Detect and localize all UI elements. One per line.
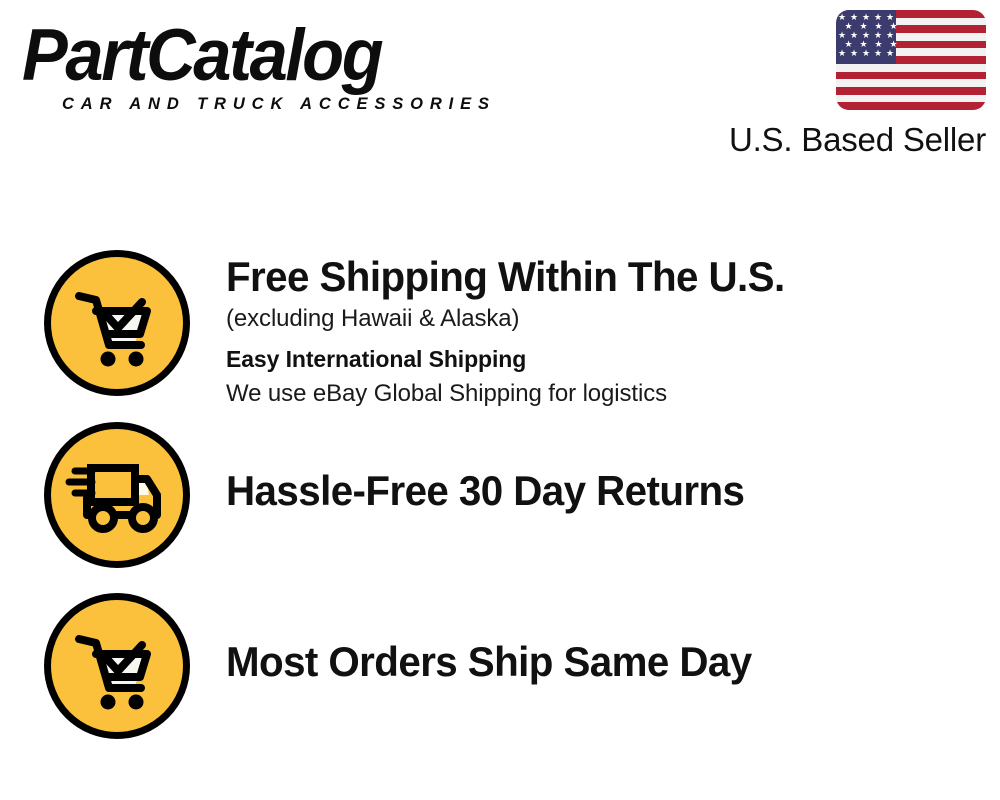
list-item: Hassle-Free 30 Day Returns <box>0 422 1000 568</box>
feature-text-block: Hassle-Free 30 Day Returns <box>226 422 1000 516</box>
brand-tagline: CAR AND TRUCK ACCESSORIES <box>62 94 496 114</box>
us-flag-icon: ★★★★★ ★★★★ ★★★★★ ★★★★ ★★★★★ <box>836 10 986 110</box>
delivery-truck-icon <box>44 422 190 568</box>
shopping-cart-check-icon <box>44 593 190 739</box>
flag-canton: ★★★★★ ★★★★ ★★★★★ ★★★★ ★★★★★ <box>836 10 896 64</box>
feature-subtext: We use eBay Global Shipping for logistic… <box>226 377 1000 410</box>
shopping-cart-check-icon <box>44 250 190 396</box>
page-header: PartCatalog CAR AND TRUCK ACCESSORIES ★★… <box>0 0 1000 170</box>
feature-text-block: Most Orders Ship Same Day <box>226 593 1000 687</box>
feature-text-block: Free Shipping Within The U.S. (excluding… <box>226 250 1000 410</box>
feature-headline: Hassle-Free 30 Day Returns <box>226 466 969 516</box>
feature-headline: Most Orders Ship Same Day <box>226 637 969 687</box>
feature-subheading: Easy International Shipping <box>226 343 1000 376</box>
brand-logo[interactable]: PartCatalog CAR AND TRUCK ACCESSORIES <box>22 18 492 116</box>
list-item: Most Orders Ship Same Day <box>0 593 1000 739</box>
list-item: Free Shipping Within The U.S. (excluding… <box>0 250 1000 410</box>
feature-note: (excluding Hawaii & Alaska) <box>226 302 1000 335</box>
us-based-seller-label: U.S. Based Seller <box>724 121 986 159</box>
brand-wordmark: PartCatalog <box>22 18 464 94</box>
us-based-seller-badge: ★★★★★ ★★★★ ★★★★★ ★★★★ ★★★★★ U.S. Based S… <box>724 10 986 159</box>
feature-headline: Free Shipping Within The U.S. <box>226 252 969 302</box>
